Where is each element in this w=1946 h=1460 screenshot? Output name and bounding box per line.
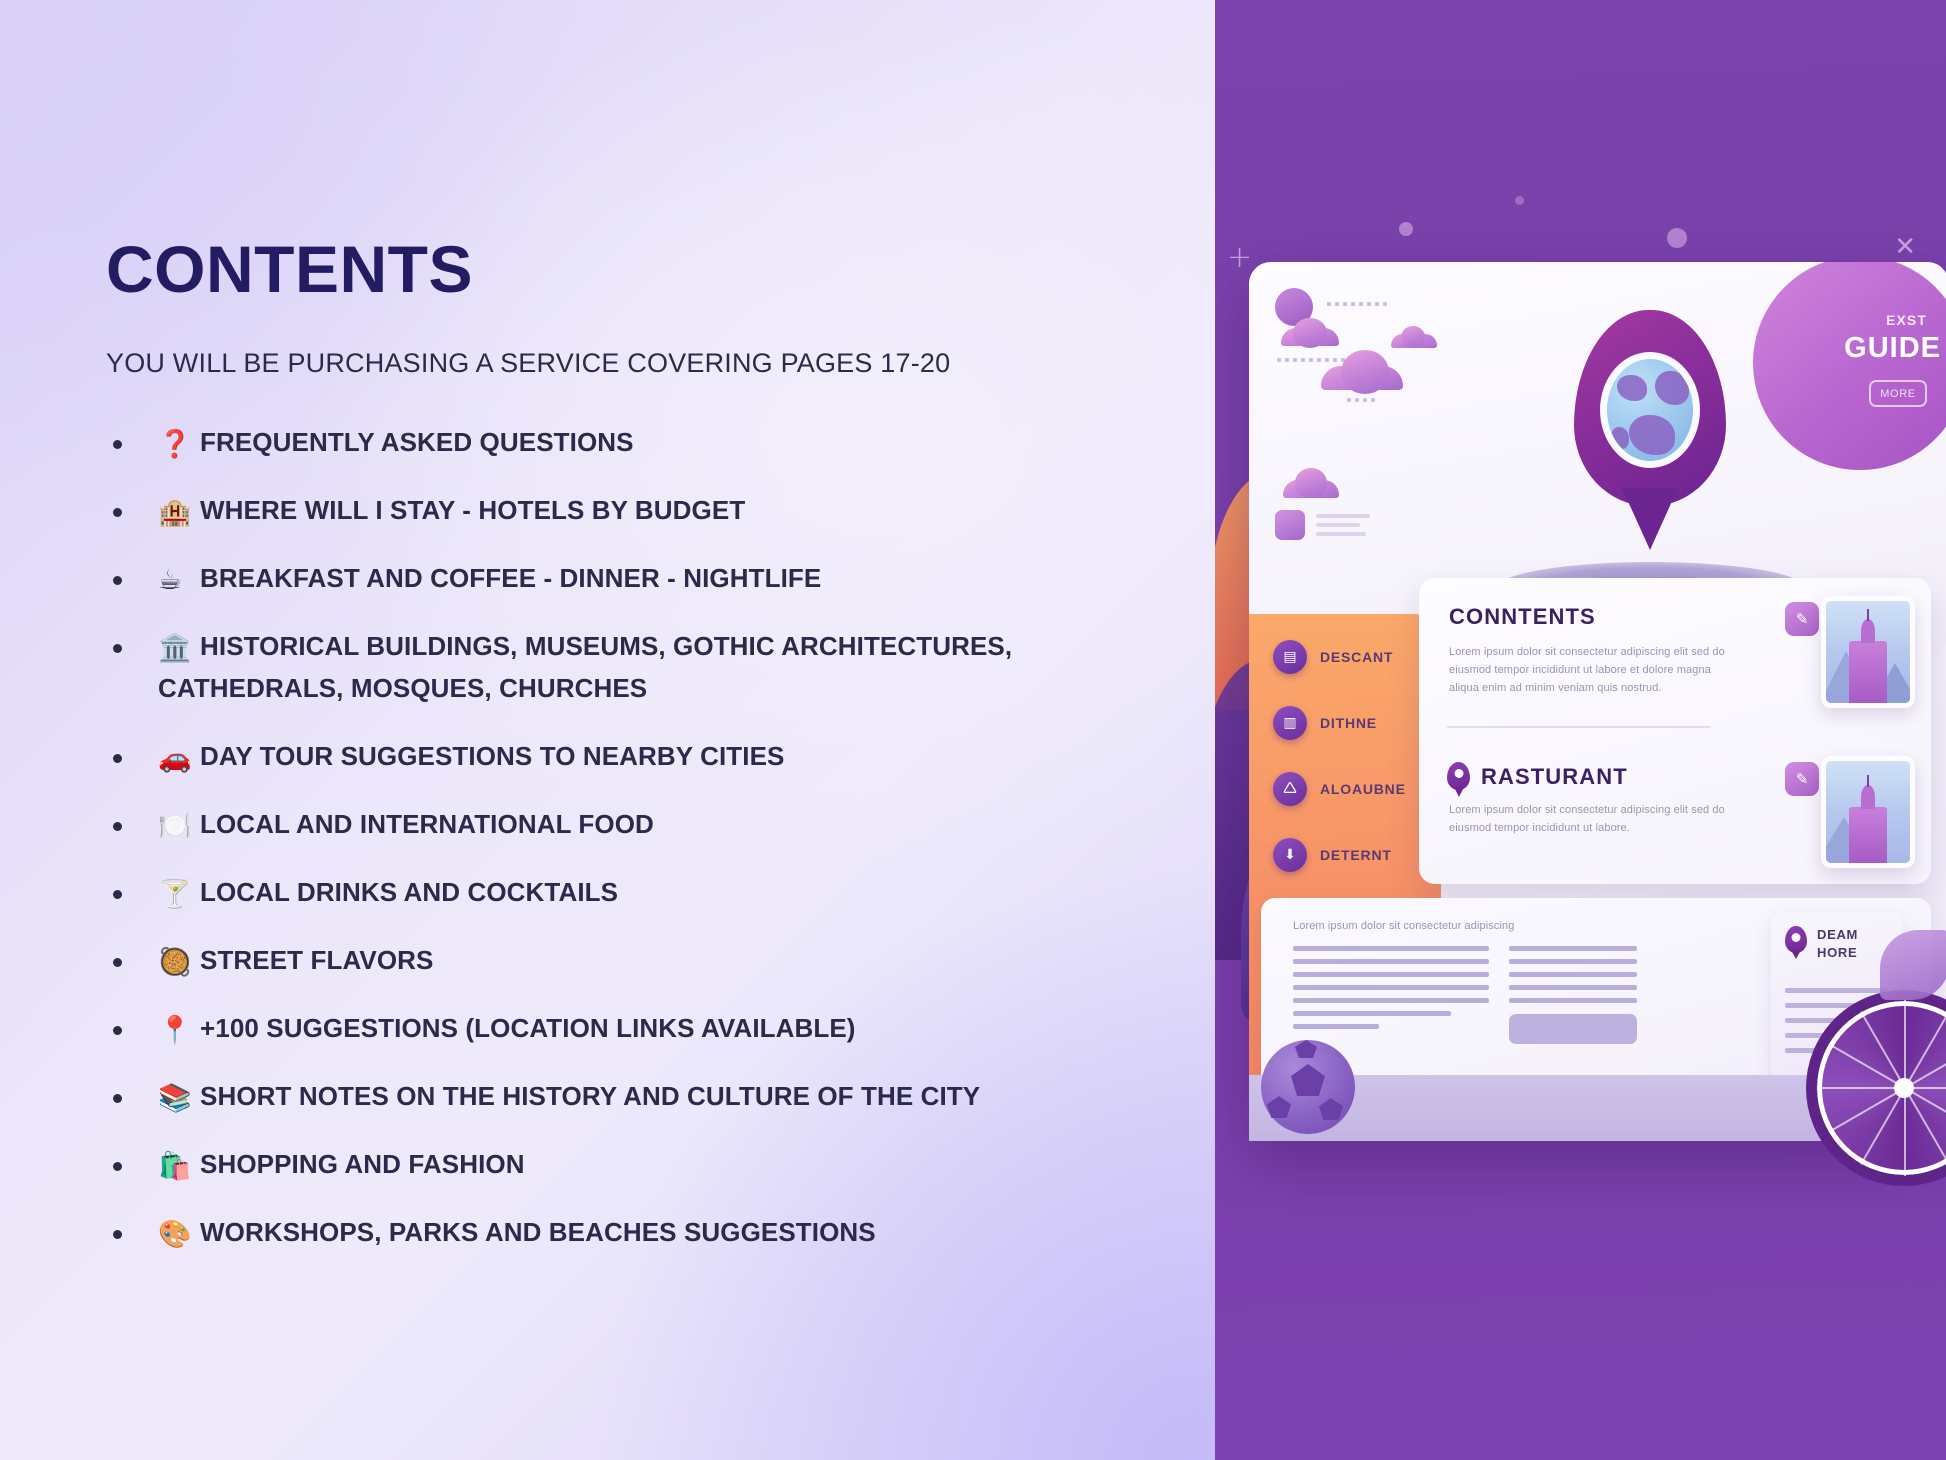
- list-item-label: LOCAL DRINKS AND COCKTAILS: [200, 877, 618, 907]
- cathedral-icon: [1849, 641, 1887, 703]
- sidebar-item-label: DESCANT: [1320, 649, 1393, 665]
- placeholder-dots: [1327, 302, 1387, 306]
- list-item-label: WORKSHOPS, PARKS AND BEACHES SUGGESTIONS: [200, 1217, 876, 1247]
- bullet-icon: [113, 822, 122, 831]
- location-pin-icon: [1447, 762, 1470, 790]
- cloud-icon: [1401, 326, 1425, 348]
- illustration-panel: + ✕: [1215, 0, 1946, 1460]
- fork-and-knife-icon: 🍽️: [158, 806, 200, 847]
- decor-dot: [1667, 228, 1687, 248]
- list-item: ❓FREQUENTLY ASKED QUESTIONS: [106, 423, 1166, 465]
- sidebar-item-deternt[interactable]: ⬇ DETERNT: [1273, 838, 1392, 872]
- list-item-label: SHOPPING AND FASHION: [200, 1149, 525, 1179]
- location-pin-icon: [1785, 926, 1807, 953]
- bullet-icon: [113, 1094, 122, 1103]
- decor-dot: [1399, 222, 1413, 236]
- table-of-contents-list: ❓FREQUENTLY ASKED QUESTIONS 🏨WHERE WILL …: [106, 423, 1166, 1255]
- placeholder-bars: [1293, 946, 1489, 1029]
- badge-title: GUIDE: [1844, 332, 1941, 365]
- placeholder-dots: [1277, 358, 1345, 362]
- download-icon: ⬇: [1273, 838, 1307, 872]
- list-item: 🥘STREET FLAVORS: [106, 941, 1166, 983]
- card-body-text: Lorem ipsum dolor sit consectetur adipis…: [1449, 644, 1729, 697]
- avatar: [1275, 510, 1305, 540]
- cta-button[interactable]: [1509, 1014, 1637, 1044]
- edit-icon[interactable]: ✎: [1785, 762, 1819, 796]
- list-item: 📍+100 SUGGESTIONS (LOCATION LINKS AVAILA…: [106, 1009, 1166, 1051]
- page-title: CONTENTS: [106, 236, 1166, 302]
- contents-block: CONTENTS YOU WILL BE PURCHASING A SERVIC…: [106, 236, 1166, 1281]
- list-item: 🏨WHERE WILL I STAY - HOTELS BY BUDGET: [106, 491, 1166, 533]
- user-row: [1275, 510, 1370, 540]
- placeholder-bars: [1316, 514, 1370, 536]
- list-item-label: SHORT NOTES ON THE HISTORY AND CULTURE O…: [200, 1081, 980, 1111]
- list-item-label: STREET FLAVORS: [200, 945, 433, 975]
- card-title: CONNTENTS: [1449, 604, 1596, 630]
- paella-icon: 🥘: [158, 942, 200, 983]
- list-item: ☕BREAKFAST AND COFFEE - DINNER - NIGHTLI…: [106, 559, 1166, 601]
- list-item: 🚗DAY TOUR SUGGESTIONS TO NEARBY CITIES: [106, 737, 1166, 779]
- list-item: 🏛️HISTORICAL BUILDINGS, MUSEUMS, GOTHIC …: [106, 627, 1166, 709]
- bullet-icon: [113, 958, 122, 967]
- card-body-text: Lorem ipsum dolor sit consectetur adipis…: [1449, 802, 1729, 838]
- list-item: 🛍️SHOPPING AND FASHION: [106, 1145, 1166, 1187]
- list-item-label: DAY TOUR SUGGESTIONS TO NEARBY CITIES: [200, 741, 785, 771]
- placeholder-bars: [1509, 946, 1637, 1003]
- card-body-text: Lorem ipsum dolor sit consectetur adipis…: [1293, 920, 1514, 932]
- bullet-icon: [113, 890, 122, 899]
- bullet-icon: [113, 754, 122, 763]
- list-item: 📚SHORT NOTES ON THE HISTORY AND CULTURE …: [106, 1077, 1166, 1119]
- sidebar-item-label: ALOAUBNE: [1320, 781, 1406, 797]
- list-item-label: LOCAL AND INTERNATIONAL FOOD: [200, 809, 654, 839]
- car-icon: 🚗: [158, 738, 200, 779]
- coffee-cup-icon: ☕: [158, 560, 200, 601]
- shopping-bags-icon: 🛍️: [158, 1146, 200, 1187]
- cloud-icon: [1293, 318, 1327, 348]
- bullet-icon: [113, 576, 122, 585]
- bullet-icon: [113, 508, 122, 517]
- card-icon: ▥: [1273, 706, 1307, 740]
- slide-root: CONTENTS YOU WILL BE PURCHASING A SERVIC…: [0, 0, 1946, 1460]
- hotel-icon: 🏨: [158, 492, 200, 533]
- left-content-panel: CONTENTS YOU WILL BE PURCHASING A SERVIC…: [0, 0, 1215, 1460]
- card-title: RASTURANT: [1481, 764, 1628, 790]
- books-icon: 📚: [158, 1078, 200, 1119]
- edit-icon[interactable]: ✎: [1785, 602, 1819, 636]
- list-item-label: WHERE WILL I STAY - HOTELS BY BUDGET: [200, 495, 745, 525]
- guide-badge[interactable]: EXST GUIDE MORE: [1753, 262, 1946, 470]
- cocktail-glass-icon: 🍸: [158, 874, 200, 915]
- list-item-label: HISTORICAL BUILDINGS, MUSEUMS, GOTHIC AR…: [158, 631, 1012, 703]
- cathedral-icon: [1849, 807, 1887, 863]
- list-item: 🎨WORKSHOPS, PARKS AND BEACHES SUGGESTION…: [106, 1213, 1166, 1255]
- subtitle: YOU WILL BE PURCHASING A SERVICE COVERIN…: [106, 348, 1166, 379]
- map-pin-icon: [1574, 310, 1726, 506]
- artist-palette-icon: 🎨: [158, 1214, 200, 1255]
- sidebar-item-label: DITHNE: [1320, 715, 1377, 731]
- thumbnail-image: [1821, 596, 1915, 708]
- briefcase-icon: ▤: [1273, 640, 1307, 674]
- list-item-label: BREAKFAST AND COFFEE - DINNER - NIGHTLIF…: [200, 563, 821, 593]
- soccer-ball-icon: [1261, 1040, 1355, 1134]
- list-item-label: FREQUENTLY ASKED QUESTIONS: [200, 427, 634, 457]
- sidebar-item-descant[interactable]: ▤ DESCANT: [1273, 640, 1393, 674]
- close-icon: ✕: [1894, 232, 1916, 262]
- globe-icon: [1600, 352, 1700, 468]
- placeholder-dots: [1347, 398, 1375, 402]
- divider: [1447, 726, 1711, 728]
- deam-hore-label: DEAMHORE: [1817, 926, 1858, 963]
- plus-icon: +: [1227, 240, 1252, 275]
- bullet-icon: [113, 1162, 122, 1171]
- bullet-icon: [113, 1230, 122, 1239]
- badge-button[interactable]: MORE: [1869, 380, 1927, 407]
- question-mark-icon: ❓: [158, 424, 200, 465]
- list-item: 🍽️LOCAL AND INTERNATIONAL FOOD: [106, 805, 1166, 847]
- bag-icon: 🛆: [1273, 772, 1307, 806]
- round-pushpin-icon: 📍: [158, 1010, 200, 1051]
- thumbnail-image: [1821, 756, 1915, 868]
- classical-building-icon: 🏛️: [158, 628, 200, 669]
- badge-eyebrow: EXST: [1886, 312, 1927, 328]
- list-item-label: +100 SUGGESTIONS (LOCATION LINKS AVAILAB…: [200, 1013, 856, 1043]
- cloud-icon: [1295, 468, 1327, 498]
- bullet-icon: [113, 644, 122, 653]
- sidebar-item-label: DETERNT: [1320, 847, 1392, 863]
- bullet-icon: [113, 440, 122, 449]
- decor-dot: [1515, 196, 1524, 205]
- bullet-icon: [113, 1026, 122, 1035]
- sidebar-item-aloaubne[interactable]: 🛆 ALOAUBNE: [1273, 772, 1406, 806]
- contents-detail-card: CONNTENTS Lorem ipsum dolor sit consecte…: [1419, 578, 1931, 884]
- app-mockup-card: EXST GUIDE MORE ▤ DESCANT ▥ DITHNE 🛆 ALO…: [1249, 262, 1946, 1140]
- sidebar-item-dithne[interactable]: ▥ DITHNE: [1273, 706, 1377, 740]
- cloud-icon: [1341, 350, 1389, 394]
- list-item: 🍸LOCAL DRINKS AND COCKTAILS: [106, 873, 1166, 915]
